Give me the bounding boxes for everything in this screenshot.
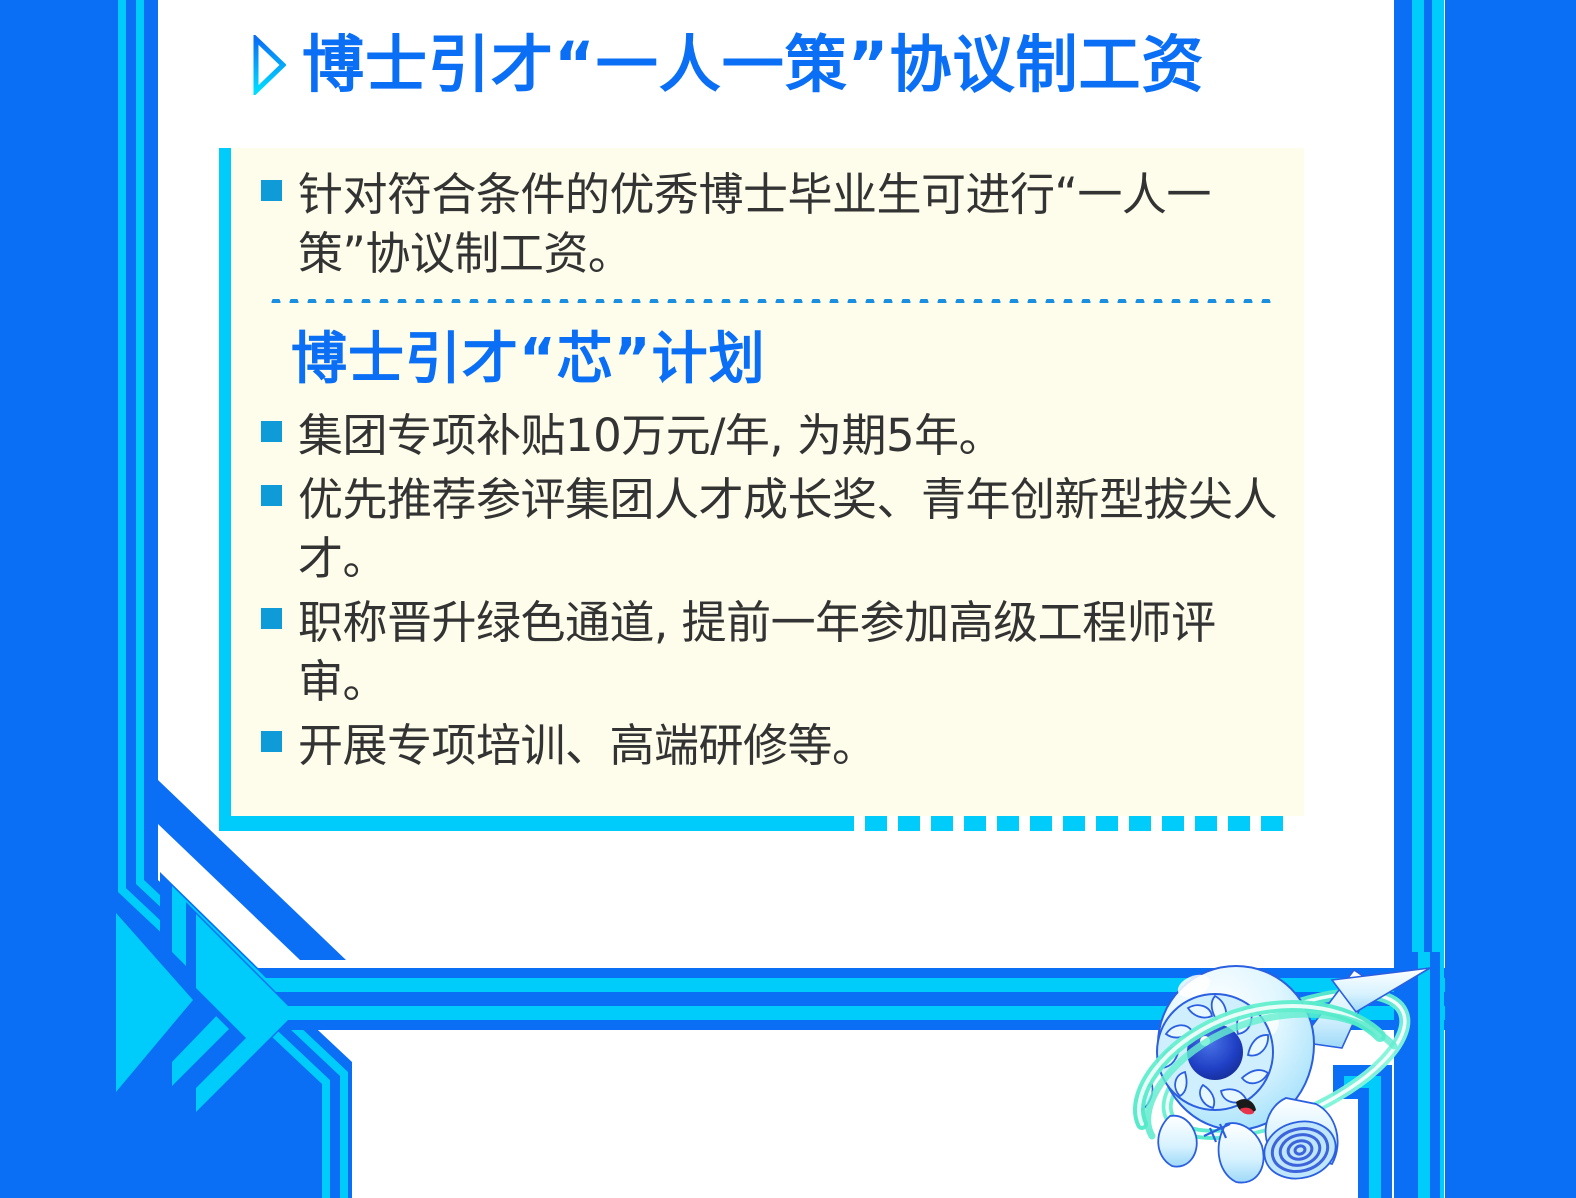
section-divider: [267, 299, 1274, 303]
bullet-square-icon: [261, 731, 282, 752]
bullet-text: 针对符合条件的优秀博士毕业生可进行“一人一策”协议制工资。: [298, 166, 1278, 283]
turbine-robot-mascot: [1118, 924, 1448, 1198]
bullet-square-icon: [261, 421, 282, 442]
bullet-text: 集团专项补贴10万元/年, 为期5年。: [298, 407, 1003, 466]
bullet-text: 优先推荐参评集团人才成长奖、青年创新型拔尖人才。: [298, 471, 1278, 588]
bullet-square-icon: [261, 608, 282, 629]
left-diagonal-connector: [118, 862, 352, 1198]
section-two-bullets: 集团专项补贴10万元/年, 为期5年。 优先推荐参评集团人才成长奖、青年创新型拔…: [261, 407, 1278, 776]
list-item: 优先推荐参评集团人才成长奖、青年创新型拔尖人才。: [261, 471, 1278, 588]
list-item: 集团专项补贴10万元/年, 为期5年。: [261, 407, 1278, 466]
bullet-text: 职称晋升绿色通道, 提前一年参加高级工程师评审。: [298, 594, 1278, 711]
list-item: 针对符合条件的优秀博士毕业生可进行“一人一策”协议制工资。: [261, 166, 1278, 283]
bullet-square-icon: [261, 180, 282, 201]
mascot-thruster: [1258, 1098, 1341, 1186]
page-title-row: 博士引才“一人一策”协议制工资: [252, 34, 1205, 96]
bullet-text: 开展专项培训、高端研修等。: [298, 717, 877, 776]
bullet-square-icon: [261, 485, 282, 506]
content-card: 针对符合条件的优秀博士毕业生可进行“一人一策”协议制工资。 博士引才“芯”计划 …: [219, 148, 1304, 816]
poster-root: 博士引才“一人一策”协议制工资 针对符合条件的优秀博士毕业生可进行“一人一策”协…: [0, 0, 1576, 1198]
play-triangle-icon: [252, 35, 286, 95]
list-item: 职称晋升绿色通道, 提前一年参加高级工程师评审。: [261, 594, 1278, 711]
section-one-bullets: 针对符合条件的优秀博士毕业生可进行“一人一策”协议制工资。: [261, 166, 1278, 283]
page-title: 博士引才“一人一策”协议制工资: [302, 34, 1205, 96]
card-bottom-rail: [219, 816, 832, 831]
list-item: 开展专项培训、高端研修等。: [261, 717, 1278, 776]
section-two-title: 博士引才“芯”计划: [291, 329, 1278, 391]
card-bottom-dashes: [832, 816, 1292, 831]
left-blue-panel: [0, 0, 116, 1198]
